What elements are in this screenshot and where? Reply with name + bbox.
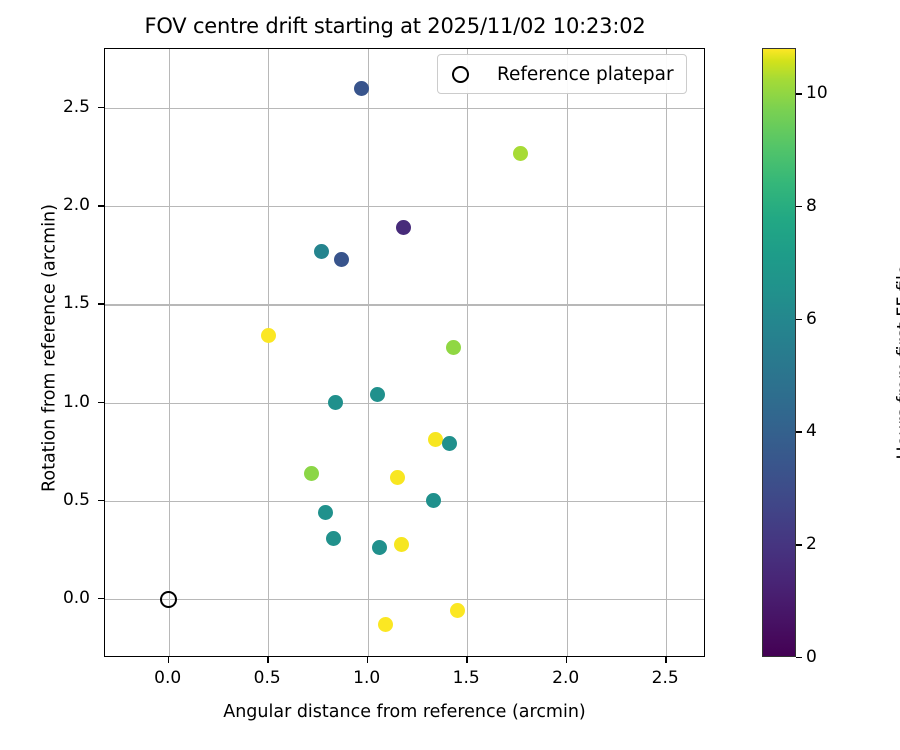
gridline-horizontal <box>105 108 704 109</box>
x-tick-label: 0.5 <box>254 668 281 688</box>
legend-open-circle-icon <box>452 66 469 83</box>
data-point <box>354 81 369 96</box>
colorbar-tick-label: 0 <box>806 647 817 667</box>
y-tick-label: 0.0 <box>63 588 90 608</box>
colorbar-tick-label: 4 <box>806 421 817 441</box>
reference-platepar-marker <box>160 591 177 608</box>
data-point <box>394 537 409 552</box>
legend: Reference platepar <box>437 54 687 94</box>
data-point <box>428 432 443 447</box>
data-point <box>304 466 319 481</box>
x-tick-label: 2.5 <box>652 668 679 688</box>
data-point <box>370 387 385 402</box>
data-point <box>396 220 411 235</box>
x-tick-mark <box>267 657 268 663</box>
x-tick-label: 1.5 <box>453 668 480 688</box>
y-tick-label: 1.5 <box>63 293 90 313</box>
gridline-horizontal <box>105 599 704 600</box>
data-point <box>326 531 341 546</box>
x-tick-label: 1.0 <box>353 668 380 688</box>
data-point <box>372 540 387 555</box>
colorbar-tick-label: 2 <box>806 534 817 554</box>
data-point <box>378 617 393 632</box>
data-point <box>261 328 276 343</box>
y-tick-mark <box>98 107 104 108</box>
plot-area <box>104 48 705 657</box>
gridline-horizontal <box>105 403 704 404</box>
y-tick-label: 0.5 <box>63 490 90 510</box>
data-point <box>334 252 349 267</box>
y-tick-mark <box>98 402 104 403</box>
y-tick-label: 2.5 <box>63 97 90 117</box>
x-tick-label: 0.0 <box>154 668 181 688</box>
x-tick-mark <box>367 657 368 663</box>
colorbar-gradient <box>762 48 796 657</box>
data-point <box>318 505 333 520</box>
x-tick-mark <box>168 657 169 663</box>
gridline-vertical <box>268 49 269 656</box>
colorbar-tick-label: 8 <box>806 196 817 216</box>
colorbar-tick-mark <box>796 657 802 658</box>
colorbar-tick-label: 6 <box>806 309 817 329</box>
y-tick-label: 1.0 <box>63 392 90 412</box>
gridline-vertical <box>467 49 468 656</box>
gridline-vertical <box>666 49 667 656</box>
y-tick-mark <box>98 303 104 304</box>
data-point <box>314 244 329 259</box>
colorbar-tick-mark <box>796 431 802 432</box>
colorbar <box>762 48 796 657</box>
gridline-horizontal <box>105 501 704 502</box>
gridline-horizontal <box>105 206 704 207</box>
x-tick-mark <box>665 657 666 663</box>
colorbar-tick-mark <box>796 544 802 545</box>
gridline-vertical <box>368 49 369 656</box>
page-title: FOV centre drift starting at 2025/11/02 … <box>0 14 790 38</box>
colorbar-tick-label: 10 <box>806 83 828 103</box>
data-point <box>446 340 461 355</box>
data-point <box>426 493 441 508</box>
colorbar-tick-mark <box>796 319 802 320</box>
data-point <box>442 436 457 451</box>
y-axis-label: Rotation from reference (arcmin) <box>40 44 60 653</box>
data-point <box>513 146 528 161</box>
y-tick-mark <box>98 500 104 501</box>
colorbar-tick-mark <box>796 93 802 94</box>
data-point <box>390 470 405 485</box>
y-tick-mark <box>98 205 104 206</box>
y-tick-mark <box>98 598 104 599</box>
gridline-horizontal <box>105 304 704 305</box>
x-tick-mark <box>566 657 567 663</box>
y-tick-label: 2.0 <box>63 195 90 215</box>
colorbar-label: Hours from first FF file <box>895 58 900 667</box>
chart-figure: FOV centre drift starting at 2025/11/02 … <box>0 0 900 750</box>
x-tick-mark <box>466 657 467 663</box>
x-tick-label: 2.0 <box>552 668 579 688</box>
data-point <box>450 603 465 618</box>
x-axis-label: Angular distance from reference (arcmin) <box>104 702 705 722</box>
data-point <box>328 395 343 410</box>
legend-item-label: Reference platepar <box>497 64 674 85</box>
gridline-vertical <box>567 49 568 656</box>
colorbar-tick-mark <box>796 206 802 207</box>
gridline-vertical <box>169 49 170 656</box>
